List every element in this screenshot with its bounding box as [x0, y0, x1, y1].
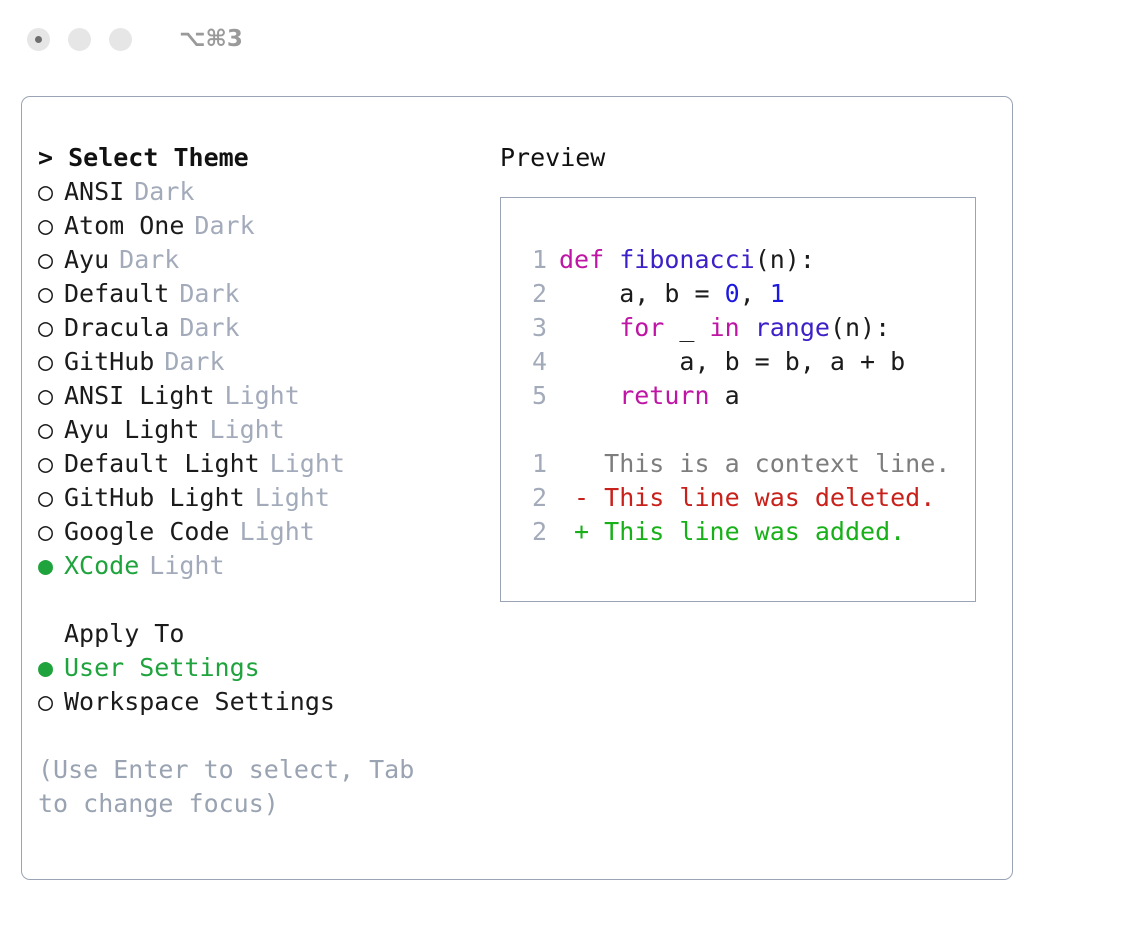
theme-option-label: GitHub Light [64, 481, 245, 515]
theme-option-ansi-light[interactable]: ○ANSI LightLight [38, 379, 508, 413]
code-line-text: This is a context line. [559, 449, 950, 478]
card-columns: > Select Theme ○ANSIDark○Atom OneDark○Ay… [22, 97, 1012, 879]
radio-unselected-icon: ○ [38, 243, 64, 277]
select-theme-heading: > Select Theme [38, 141, 508, 175]
theme-option-label: ANSI [64, 175, 124, 209]
theme-variant-tag: Light [240, 515, 315, 549]
token-del: - This line was deleted. [559, 483, 935, 512]
code-line-text: for _ in range(n): [559, 313, 890, 342]
line-number: 2 [521, 277, 547, 311]
theme-variant-tag: Light [209, 413, 284, 447]
theme-option-label: Ayu [64, 243, 109, 277]
window-titlebar: ⌥⌘3 [0, 0, 1140, 78]
token-pln: a, b = [559, 279, 725, 308]
apply-to-option-list[interactable]: ●User Settings○Workspace Settings [38, 651, 508, 719]
keyboard-hint-text: (Use Enter to select, Tab to change focu… [38, 753, 448, 821]
theme-variant-tag: Light [270, 447, 345, 481]
token-pln: , [740, 279, 770, 308]
code-line-text: + This line was added. [559, 517, 905, 546]
app-root: ⌥⌘3 > Select Theme ○ANSIDark○Atom OneDar… [0, 0, 1140, 934]
theme-option-github[interactable]: ○GitHubDark [38, 345, 508, 379]
radio-unselected-icon: ○ [38, 685, 64, 719]
code-line: 2 a, b = 0, 1 [521, 277, 950, 311]
apply-to-heading: Apply To [38, 617, 508, 651]
theme-option-ayu[interactable]: ○AyuDark [38, 243, 508, 277]
theme-variant-tag: Light [149, 549, 224, 583]
radio-unselected-icon: ○ [38, 515, 64, 549]
window-controls [27, 28, 132, 51]
theme-variant-tag: Dark [179, 311, 239, 345]
token-pln: (n): [830, 313, 890, 342]
code-line-text: a, b = 0, 1 [559, 279, 785, 308]
radio-unselected-icon: ○ [38, 209, 64, 243]
theme-option-label: Google Code [64, 515, 230, 549]
theme-option-atom-one[interactable]: ○Atom OneDark [38, 209, 508, 243]
theme-option-label: Atom One [64, 209, 184, 243]
radio-unselected-icon: ○ [38, 447, 64, 481]
radio-unselected-icon: ○ [38, 175, 64, 209]
token-pln: a [725, 381, 740, 410]
line-number: 2 [521, 515, 547, 549]
radio-unselected-icon: ○ [38, 311, 64, 345]
code-preview: 1def fibonacci(n):2 a, b = 0, 13 for _ i… [521, 243, 950, 549]
token-add: + This line was added. [559, 517, 905, 546]
preview-heading: Preview [500, 141, 1000, 175]
token-pln: _ [679, 313, 709, 342]
window-dot-second[interactable] [68, 28, 91, 51]
line-number: 3 [521, 311, 547, 345]
token-pln: a, b = b, a + b [559, 347, 905, 376]
theme-variant-tag: Dark [179, 277, 239, 311]
apply-option-user-settings[interactable]: ●User Settings [38, 651, 508, 685]
token-kw: return [559, 381, 725, 410]
theme-option-default-light[interactable]: ○Default LightLight [38, 447, 508, 481]
theme-option-dracula[interactable]: ○DraculaDark [38, 311, 508, 345]
token-pln: (n): [755, 245, 815, 274]
theme-option-github-light[interactable]: ○GitHub LightLight [38, 481, 508, 515]
apply-option-workspace-settings[interactable]: ○Workspace Settings [38, 685, 508, 719]
preview-column: Preview 1def fibonacci(n):2 a, b = 0, 13… [500, 141, 1000, 602]
token-kw: for [559, 313, 679, 342]
theme-option-google-code[interactable]: ○Google CodeLight [38, 515, 508, 549]
line-number: 2 [521, 481, 547, 515]
theme-variant-tag: Light [225, 379, 300, 413]
window-dot-active[interactable] [27, 28, 50, 51]
line-number: 1 [521, 447, 547, 481]
apply-option-label: User Settings [64, 651, 260, 685]
theme-option-ayu-light[interactable]: ○Ayu LightLight [38, 413, 508, 447]
theme-variant-tag: Dark [194, 209, 254, 243]
section-spacer [38, 583, 508, 617]
theme-variant-tag: Dark [119, 243, 179, 277]
code-line-text: def fibonacci(n): [559, 245, 815, 274]
theme-variant-tag: Dark [164, 345, 224, 379]
main-card: > Select Theme ○ANSIDark○Atom OneDark○Ay… [21, 96, 1013, 880]
code-line: 4 a, b = b, a + b [521, 345, 950, 379]
keyboard-shortcut-label: ⌥⌘3 [179, 26, 243, 52]
theme-option-label: ANSI Light [64, 379, 215, 413]
diff-line: 1 This is a context line. [521, 447, 950, 481]
theme-variant-tag: Dark [134, 175, 194, 209]
code-line-text: a, b = b, a + b [559, 347, 905, 376]
token-num: 1 [770, 279, 785, 308]
theme-option-label: Ayu Light [64, 413, 199, 447]
token-kw: in [710, 313, 755, 342]
line-number: 1 [521, 243, 547, 277]
token-fn: range [755, 313, 830, 342]
theme-option-label: Dracula [64, 311, 169, 345]
window-dot-third[interactable] [109, 28, 132, 51]
theme-option-label: Default [64, 277, 169, 311]
theme-option-default[interactable]: ○DefaultDark [38, 277, 508, 311]
preview-panel: 1def fibonacci(n):2 a, b = 0, 13 for _ i… [500, 197, 976, 602]
theme-option-label: Default Light [64, 447, 260, 481]
token-fn: fibonacci [619, 245, 754, 274]
radio-unselected-icon: ○ [38, 345, 64, 379]
code-line-text: - This line was deleted. [559, 483, 935, 512]
theme-option-list[interactable]: ○ANSIDark○Atom OneDark○AyuDark○DefaultDa… [38, 175, 508, 583]
theme-option-ansi[interactable]: ○ANSIDark [38, 175, 508, 209]
line-number: 5 [521, 379, 547, 413]
theme-variant-tag: Light [255, 481, 330, 515]
apply-option-label: Workspace Settings [64, 685, 335, 719]
code-line: 3 for _ in range(n): [521, 311, 950, 345]
code-line: 1def fibonacci(n): [521, 243, 950, 277]
theme-option-label: XCode [64, 549, 139, 583]
theme-option-label: GitHub [64, 345, 154, 379]
radio-selected-icon: ● [38, 651, 64, 685]
diff-line: 2 + This line was added. [521, 515, 950, 549]
theme-selector-column: > Select Theme ○ANSIDark○Atom OneDark○Ay… [38, 141, 508, 821]
code-line-text: return a [559, 381, 740, 410]
radio-unselected-icon: ○ [38, 379, 64, 413]
token-ctx: This is a context line. [559, 449, 950, 478]
diff-line: 2 - This line was deleted. [521, 481, 950, 515]
theme-option-xcode[interactable]: ●XCodeLight [38, 549, 508, 583]
code-blank-line [521, 413, 950, 447]
radio-unselected-icon: ○ [38, 481, 64, 515]
radio-selected-icon: ● [38, 549, 64, 583]
code-line: 5 return a [521, 379, 950, 413]
line-number: 4 [521, 345, 547, 379]
radio-unselected-icon: ○ [38, 277, 64, 311]
radio-unselected-icon: ○ [38, 413, 64, 447]
token-num: 0 [725, 279, 740, 308]
token-kw: def [559, 245, 619, 274]
